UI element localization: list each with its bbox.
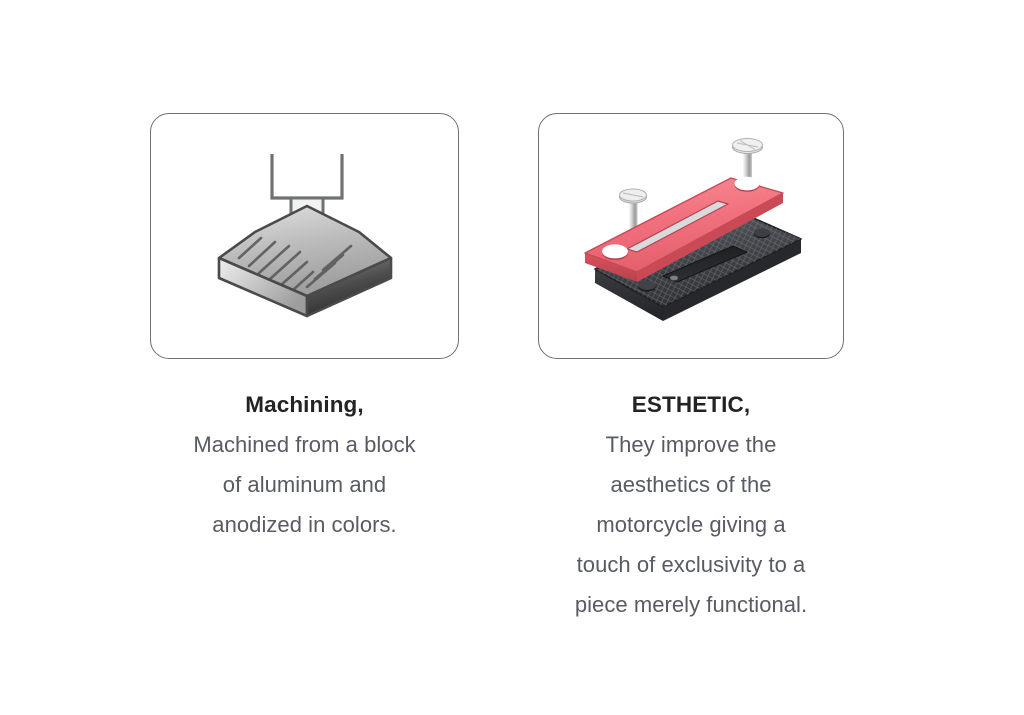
feature-title: Machining, (140, 385, 470, 425)
feature-title: ESTHETIC, (521, 385, 861, 425)
icon-card-esthetic (538, 113, 844, 359)
feature-list: Machining, Machined from a block of alum… (0, 0, 1024, 715)
description-line: piece merely functional. (521, 585, 861, 625)
feature-card-machining: Machining, Machined from a block of alum… (150, 113, 459, 545)
description-line: motorcycle giving a (521, 505, 861, 545)
description-line: anodized in colors. (140, 505, 470, 545)
icon-card-machining (150, 113, 459, 359)
feature-description: They improve the aesthetics of the motor… (521, 425, 861, 625)
screw-head-front-overlay (620, 189, 647, 201)
description-line: They improve the (521, 425, 861, 465)
feature-card-esthetic: ESTHETIC, They improve the aesthetics of… (538, 113, 844, 625)
feature-text-esthetic: ESTHETIC, They improve the aesthetics of… (521, 385, 861, 625)
cnc-milling-machine-icon (195, 136, 415, 336)
description-line: Machined from a block (140, 425, 470, 465)
description-line: touch of exclusivity to a (521, 545, 861, 585)
description-line: of aluminum and (140, 465, 470, 505)
description-line: aesthetics of the (521, 465, 861, 505)
anodized-bracket-plate-icon (551, 121, 831, 351)
feature-description: Machined from a block of aluminum and an… (140, 425, 470, 545)
feature-text-machining: Machining, Machined from a block of alum… (140, 385, 470, 545)
screw-head-rear-overlay (733, 139, 763, 152)
